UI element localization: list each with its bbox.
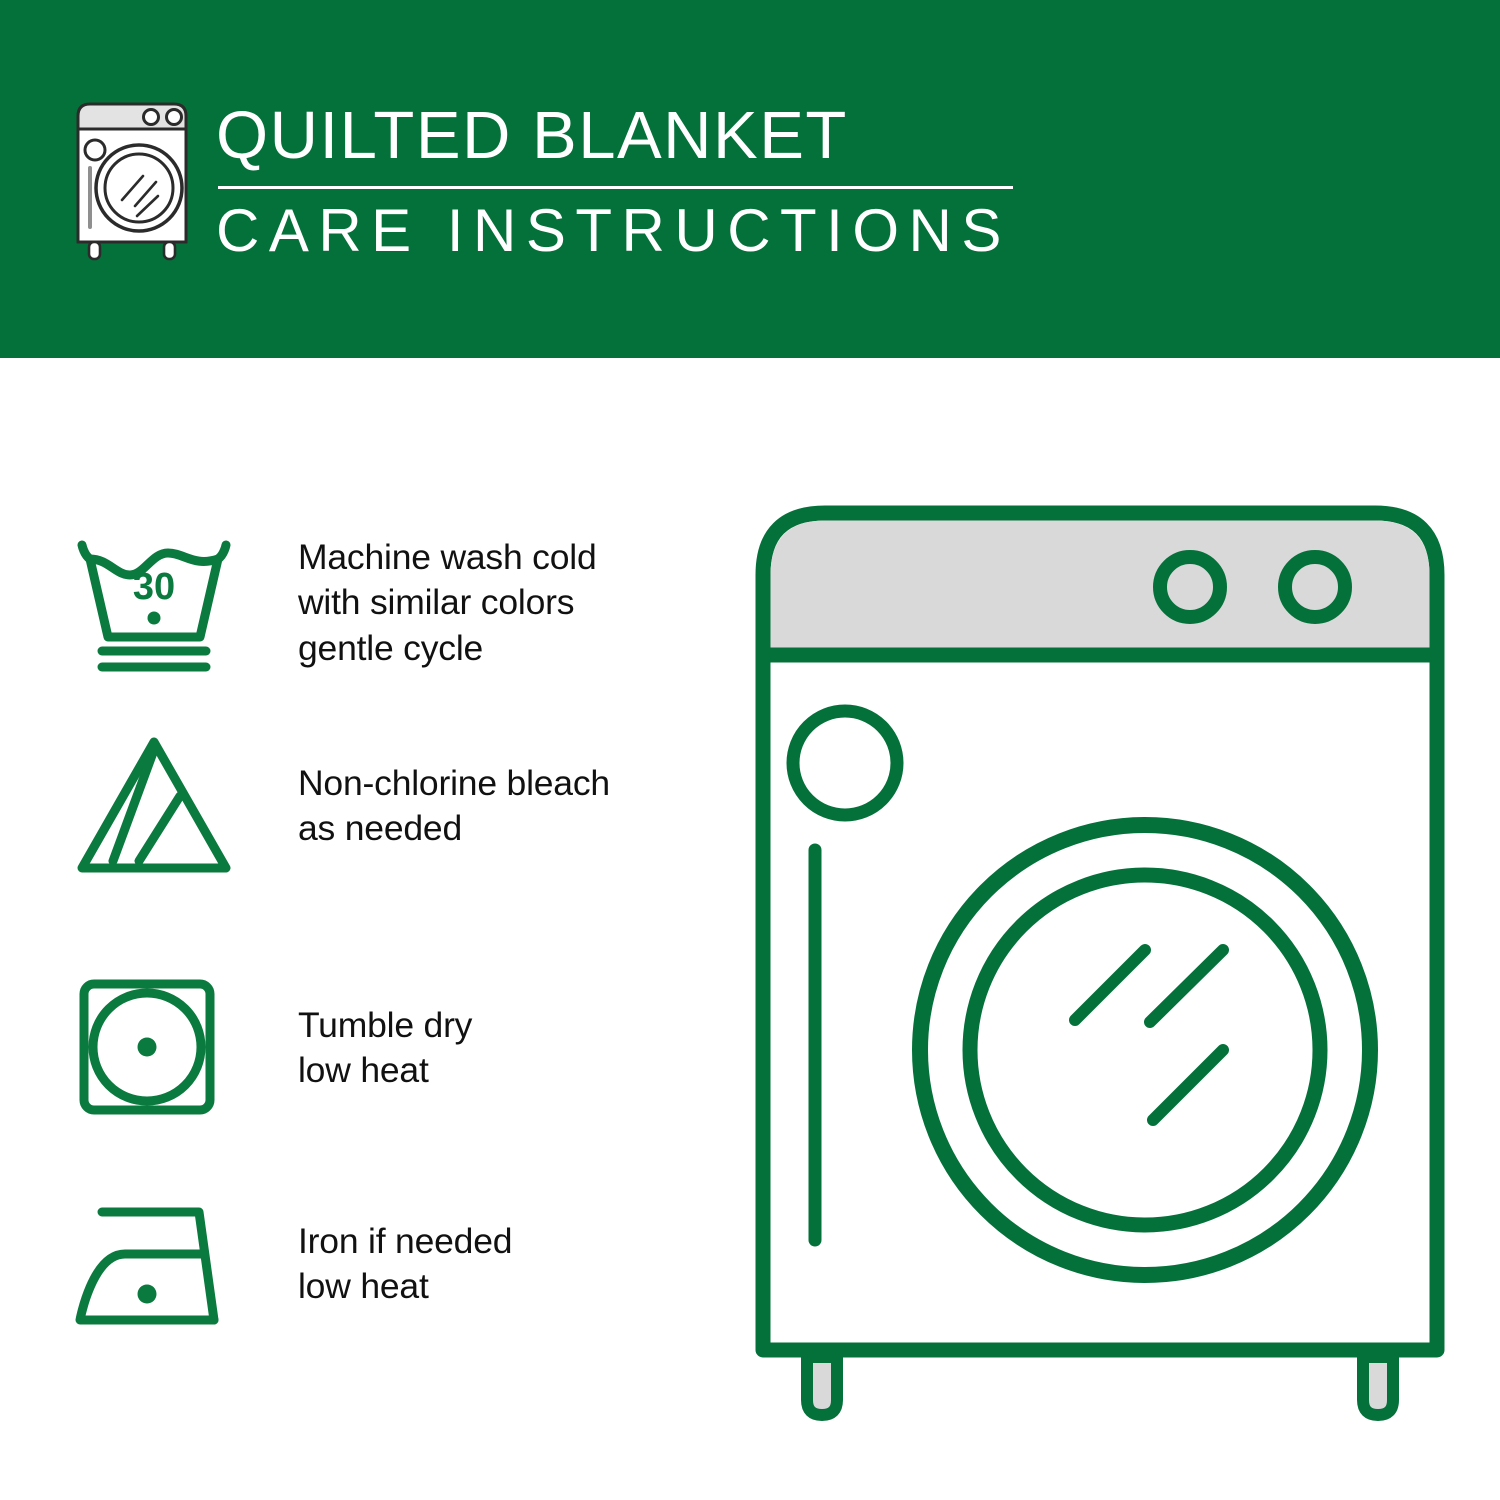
care-row-iron: Iron if needed low heat <box>68 1186 708 1342</box>
iron-low-heat-icon <box>68 1186 240 1342</box>
care-row-machine-wash: 30 Machine wash cold with similar colors… <box>68 525 708 681</box>
care-text-tumble-dry: Tumble dry low heat <box>298 1003 472 1094</box>
washer-leg-left <box>807 1357 837 1415</box>
title-divider <box>218 186 1013 189</box>
washer-leg-right <box>1363 1357 1393 1415</box>
page-title: QUILTED BLANKET <box>216 102 1013 170</box>
control-knob-1[interactable] <box>1160 557 1220 617</box>
care-text-iron: Iron if needed low heat <box>298 1219 512 1310</box>
care-text-machine-wash: Machine wash cold with similar colors ge… <box>298 535 597 671</box>
care-text-bleach: Non-chlorine bleach as needed <box>298 761 610 852</box>
header-banner: QUILTED BLANKET CARE INSTRUCTIONS <box>0 0 1500 358</box>
non-chlorine-bleach-triangle-icon <box>68 728 240 884</box>
header-content: QUILTED BLANKET CARE INSTRUCTIONS <box>62 96 1013 268</box>
detergent-indicator-icon <box>793 711 897 815</box>
washing-machine-logo-icon <box>62 96 202 268</box>
tumble-dry-low-heat-icon <box>68 970 240 1126</box>
wash-temperature-label: 30 <box>133 566 175 608</box>
wash-tub-30-gentle-icon: 30 <box>68 525 240 681</box>
care-row-bleach: Non-chlorine bleach as needed <box>68 728 708 884</box>
care-row-tumble-dry: Tumble dry low heat <box>68 970 708 1126</box>
header-title-stack: QUILTED BLANKET CARE INSTRUCTIONS <box>216 96 1013 261</box>
control-knob-2[interactable] <box>1285 557 1345 617</box>
care-instructions-list: 30 Machine wash cold with similar colors… <box>0 358 740 1500</box>
drum-inner-ring[interactable] <box>970 875 1320 1225</box>
front-load-washing-machine-illustration <box>745 495 1455 1425</box>
page-subtitle: CARE INSTRUCTIONS <box>216 201 1013 261</box>
